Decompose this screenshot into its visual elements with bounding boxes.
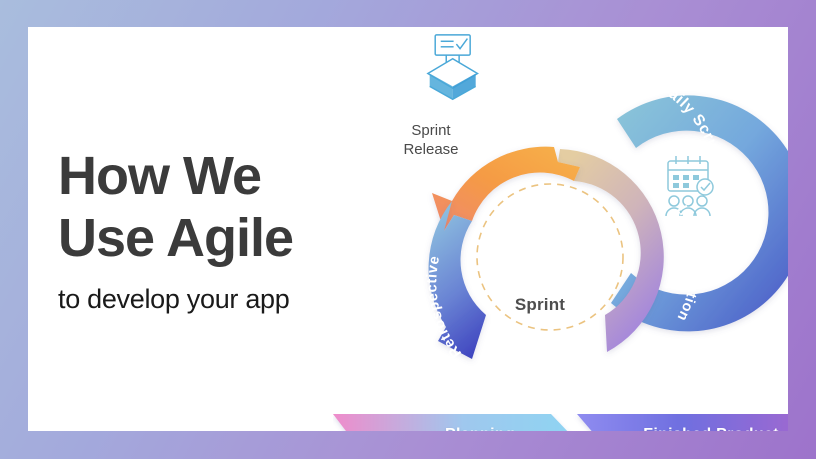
finished-product-label: Finished Product: [621, 414, 788, 431]
poster-canvas: How We Use Agile to develop your app: [28, 27, 788, 431]
planning-label: Planning: [405, 414, 555, 431]
agile-cycle-diagram: Daily Scrum Review Retrospective Impleme…: [368, 27, 788, 431]
page-title-line-1: How We: [58, 145, 418, 207]
sprint-center-label: Sprint: [490, 295, 590, 315]
page-title-line-2: Use Agile: [58, 207, 418, 269]
poster-frame: How We Use Agile to develop your app: [0, 0, 816, 459]
open-box-checklist-icon: [428, 35, 478, 99]
sprint-release-label-line-1: Sprint: [376, 121, 486, 140]
page-subtitle: to develop your app: [58, 283, 418, 315]
title-block: How We Use Agile to develop your app: [58, 145, 418, 315]
process-banner: Planning Finished Product: [333, 414, 788, 431]
sprint-release-label-line-2: Release: [376, 140, 486, 159]
sprint-release-label: Sprint Release: [376, 121, 486, 159]
